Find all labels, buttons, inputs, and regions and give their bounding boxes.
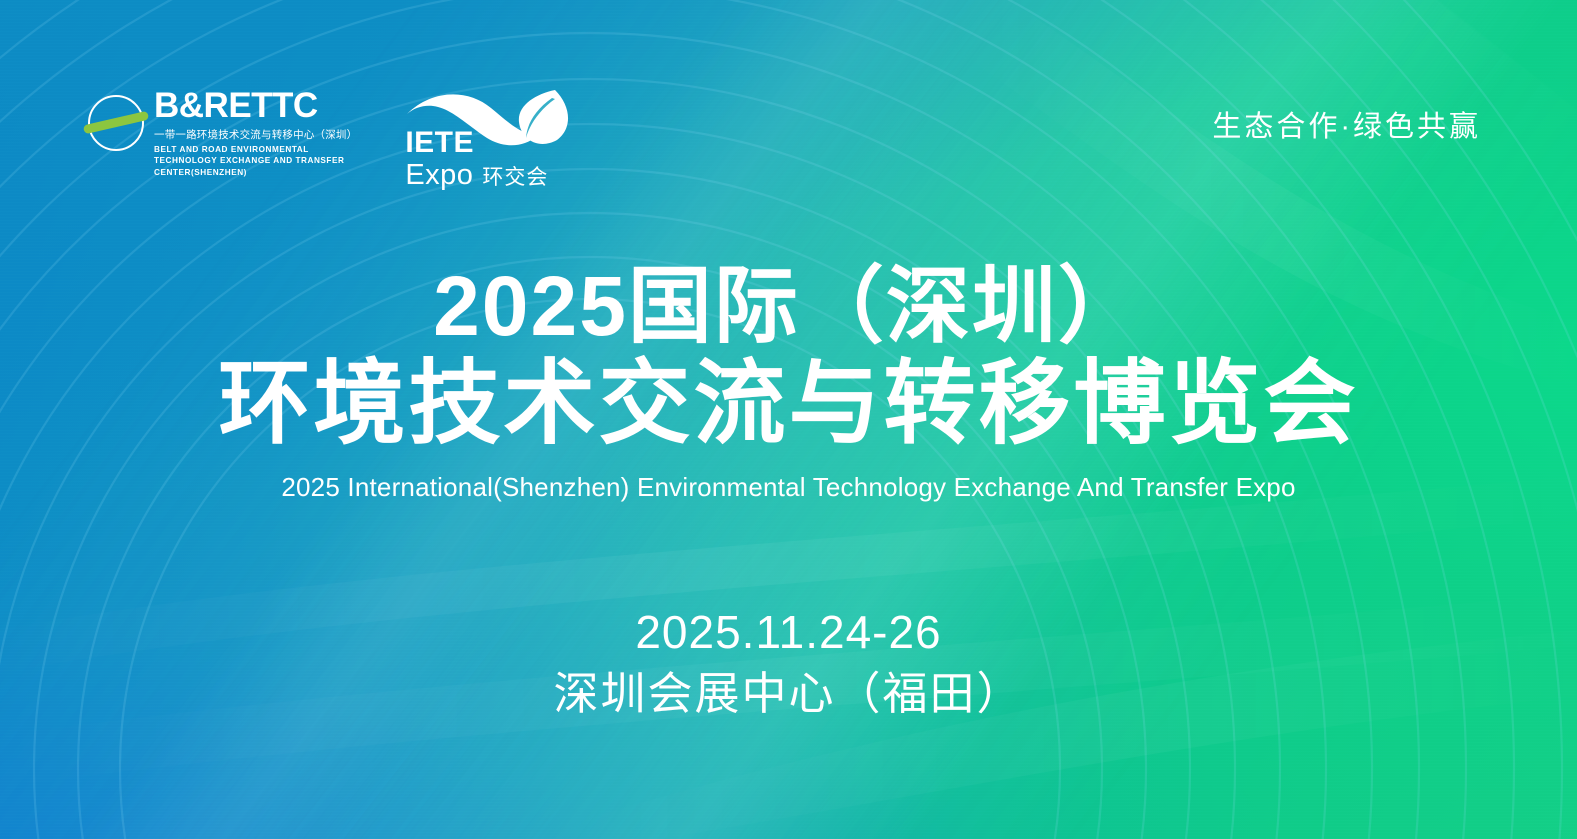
brettc-name-en: BELT AND ROAD ENVIRONMENTAL TECHNOLOGY E…: [154, 144, 357, 178]
iete-text-block: IETE Expo 环交会: [405, 128, 548, 190]
brettc-name-en-line-1: BELT AND ROAD ENVIRONMENTAL: [154, 144, 357, 155]
logo-row: B&RETTC 一带一路环境技术交流与转移中心（深圳） BELT AND ROA…: [88, 88, 577, 188]
globe-with-green-band-icon: [88, 95, 144, 151]
brettc-name-en-line-3: CENTER(SHENZHEN): [154, 167, 357, 178]
iete-wordmark: IETE: [405, 128, 548, 158]
event-banner: B&RETTC 一带一路环境技术交流与转移中心（深圳） BELT AND ROA…: [0, 0, 1577, 839]
iete-expo-logo: IETE Expo 环交会: [405, 88, 577, 188]
brettc-wordmark: B&RETTC: [154, 88, 357, 123]
headline-block: 2025国际（深圳） 环境技术交流与转移博览会 2025 Internation…: [0, 262, 1577, 503]
page-subtitle-en: 2025 International(Shenzhen) Environment…: [0, 472, 1577, 503]
event-date: 2025.11.24-26: [0, 604, 1577, 662]
iete-subline: Expo 环交会: [405, 161, 548, 190]
slogan: 生态合作·绿色共赢: [1212, 103, 1481, 145]
event-venue: 深圳会展中心（福田）: [0, 666, 1577, 722]
brettc-text-block: B&RETTC 一带一路环境技术交流与转移中心（深圳） BELT AND ROA…: [154, 88, 357, 178]
event-meta-block: 2025.11.24-26 深圳会展中心（福田）: [0, 604, 1577, 722]
iete-expo-label-cn: 环交会: [482, 167, 548, 188]
brettc-name-cn: 一带一路环境技术交流与转移中心（深圳）: [154, 127, 357, 142]
banner-content: B&RETTC 一带一路环境技术交流与转移中心（深圳） BELT AND ROA…: [0, 0, 1577, 839]
page-title-line-2: 环境技术交流与转移博览会: [0, 353, 1577, 456]
iete-expo-label: Expo: [405, 161, 473, 190]
brettc-name-en-line-2: TECHNOLOGY EXCHANGE AND TRANSFER: [154, 155, 357, 166]
page-title-line-1: 2025国际（深圳）: [0, 262, 1577, 351]
brettc-logo: B&RETTC 一带一路环境技术交流与转移中心（深圳） BELT AND ROA…: [88, 88, 357, 178]
